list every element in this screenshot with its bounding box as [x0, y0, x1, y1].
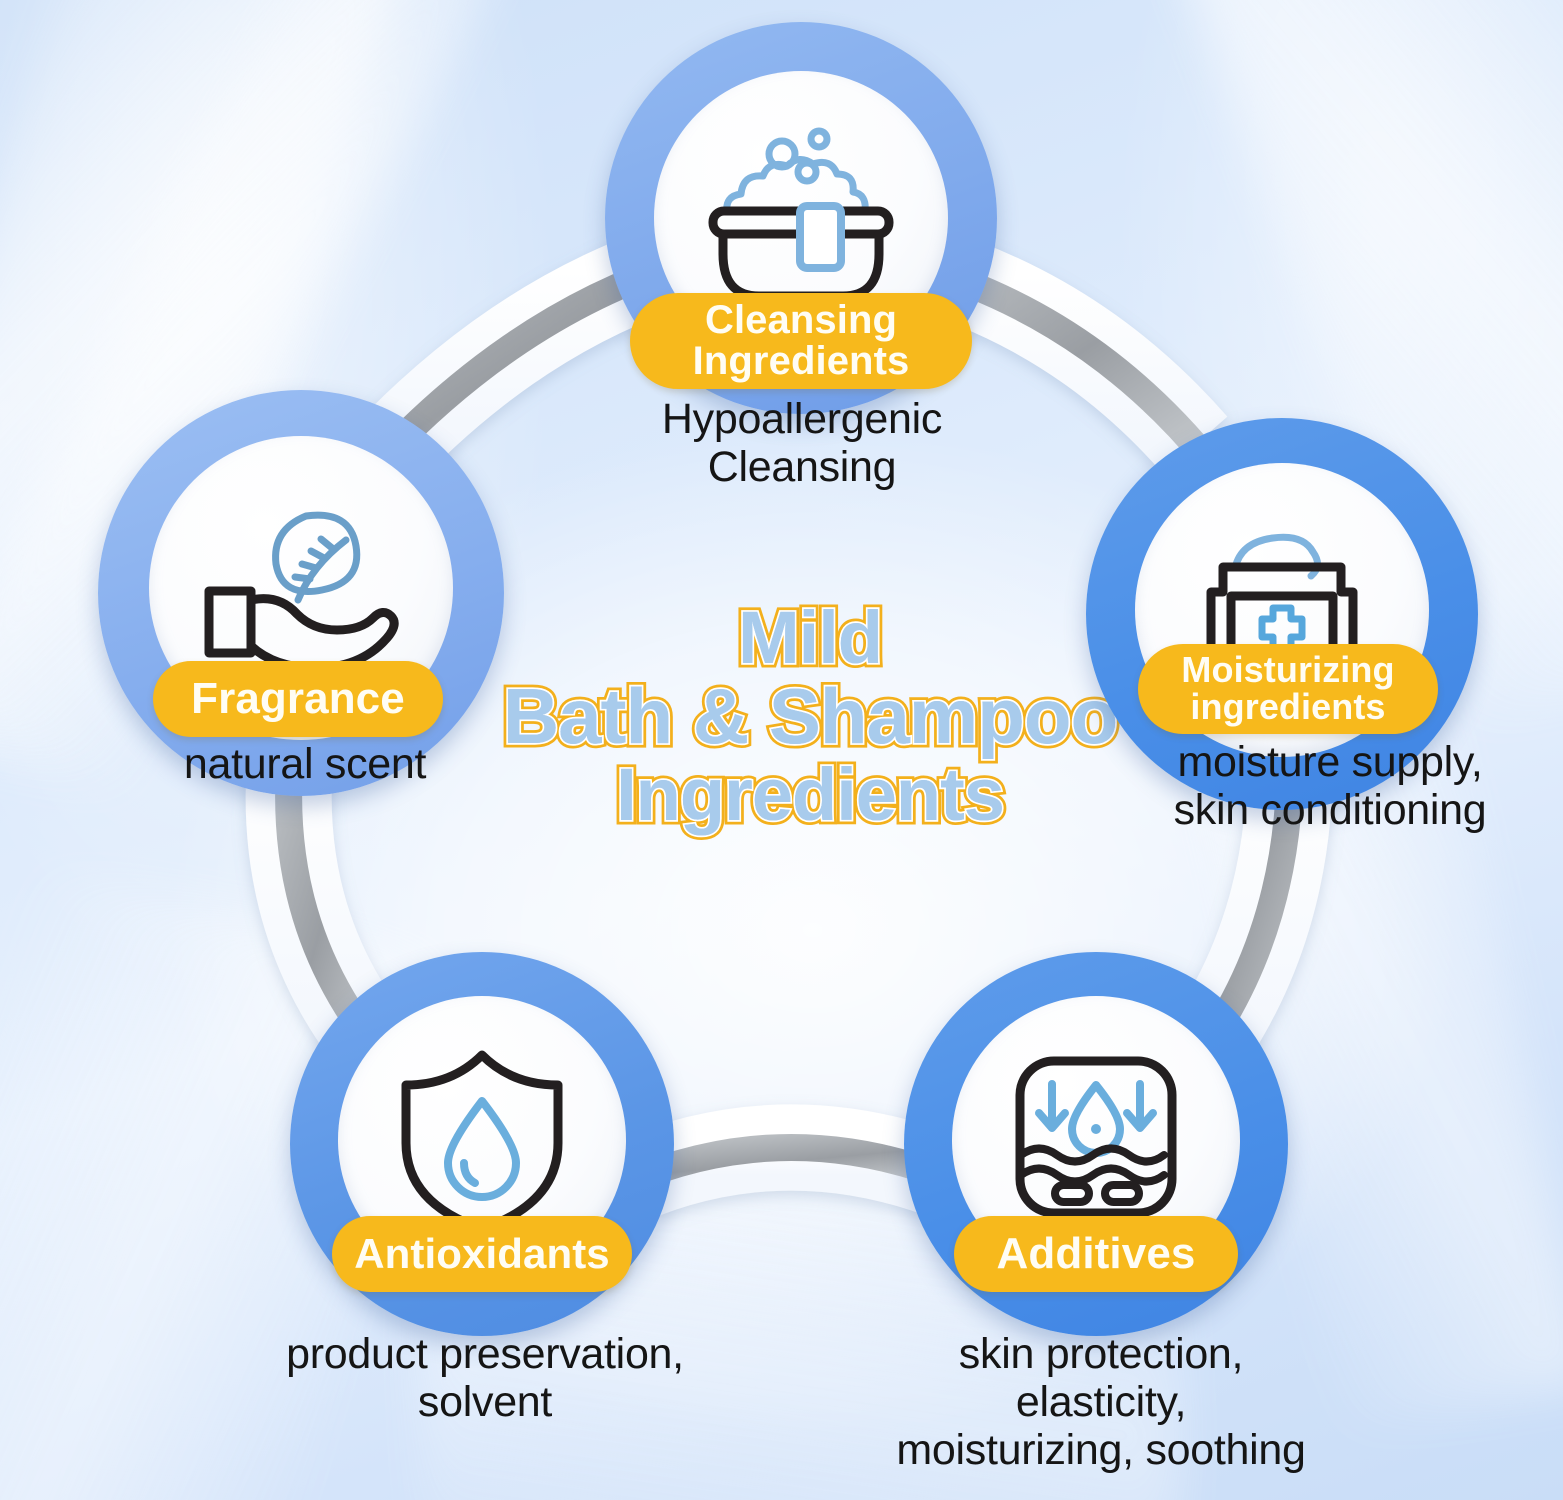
infographic-canvas: Mild Bath & Shampoo Ingredients Mild Bat…: [0, 0, 1563, 1500]
node-fragrance-pill[interactable]: Fragrance: [153, 661, 443, 737]
bathtub-icon: [701, 127, 901, 309]
center-title-line-2-fill: Bath & Shampoo: [470, 676, 1150, 756]
node-moisturizing-caption-line-1: moisture supply,: [1095, 738, 1563, 786]
node-additives[interactable]: Additives: [904, 952, 1288, 1336]
node-cleansing-caption-line-1: Hypoallergenic: [552, 395, 1052, 443]
node-fragrance-caption: natural scent: [85, 740, 525, 788]
node-cleansing-caption: Hypoallergenic Cleansing: [552, 395, 1052, 491]
shield-droplet-icon: [396, 1047, 568, 1233]
node-antioxidants-caption-line-2: solvent: [200, 1378, 770, 1426]
node-cleansing-caption-line-2: Cleansing: [552, 443, 1052, 491]
node-additives-caption-line-1: skin protection,: [836, 1330, 1366, 1378]
center-title-line-1-fill: Mild: [470, 600, 1150, 676]
node-cleansing[interactable]: Cleansing Ingredients: [605, 22, 997, 414]
node-additives-pill[interactable]: Additives: [954, 1216, 1238, 1292]
node-cleansing-pill[interactable]: Cleansing Ingredients: [630, 293, 972, 389]
node-antioxidants[interactable]: Antioxidants: [290, 952, 674, 1336]
node-fragrance[interactable]: Fragrance: [98, 390, 504, 796]
node-additives-caption-line-2: elasticity,: [836, 1378, 1366, 1426]
center-title-line-3-fill: Ingredients: [470, 757, 1150, 833]
skin-layers-icon: [1007, 1051, 1185, 1229]
node-fragrance-pill-line-1: Fragrance: [191, 677, 405, 722]
node-moisturizing-pill-line-2: ingredients: [1190, 689, 1385, 726]
node-cleansing-pill-line-1: Cleansing: [705, 300, 897, 341]
node-moisturizing-caption: moisture supply, skin conditioning: [1095, 738, 1563, 834]
node-fragrance-caption-line-1: natural scent: [85, 740, 525, 788]
center-title: Mild Bath & Shampoo Ingredients: [470, 600, 1150, 833]
node-antioxidants-caption-line-1: product preservation,: [200, 1330, 770, 1378]
node-additives-caption: skin protection, elasticity, moisturizin…: [836, 1330, 1366, 1474]
node-moisturizing-caption-line-2: skin conditioning: [1095, 786, 1563, 834]
node-additives-pill-line-1: Additives: [997, 1232, 1196, 1277]
hand-leaf-icon: [198, 508, 404, 668]
node-moisturizing-pill-line-1: Moisturizing: [1181, 652, 1394, 689]
node-cleansing-pill-line-2: Ingredients: [693, 341, 910, 382]
node-antioxidants-pill-line-1: Antioxidants: [354, 1233, 610, 1276]
node-additives-caption-line-3: moisturizing, soothing: [836, 1426, 1366, 1474]
node-antioxidants-pill[interactable]: Antioxidants: [332, 1216, 632, 1292]
node-antioxidants-caption: product preservation, solvent: [200, 1330, 770, 1426]
node-moisturizing-pill[interactable]: Moisturizing ingredients: [1138, 644, 1438, 734]
